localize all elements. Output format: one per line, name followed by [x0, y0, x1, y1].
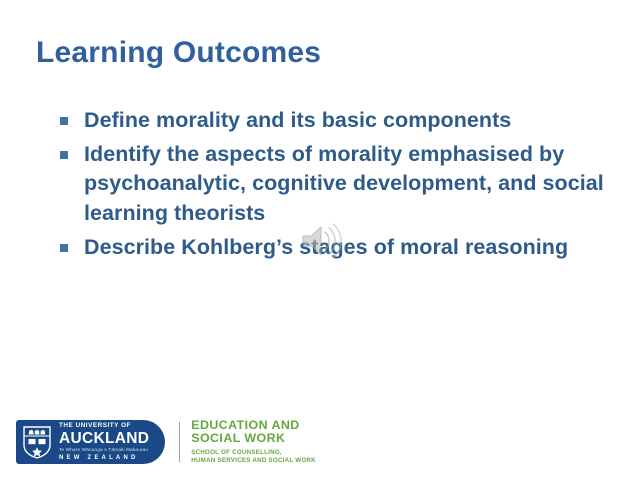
university-of-auckland-logo: ☗☗☗ THE UNIVERSITY OF AUCKLAND Te Whare … [16, 420, 165, 464]
slide-footer: ☗☗☗ THE UNIVERSITY OF AUCKLAND Te Whare … [16, 418, 316, 466]
faculty-line-2: SOCIAL WORK [191, 432, 316, 445]
list-item-text: Define morality and its basic components [84, 106, 620, 135]
list-item-text: Identify the aspects of morality emphasi… [84, 140, 620, 228]
faculty-subtitle-2: HUMAN SERVICES AND SOCIAL WORK [191, 457, 316, 465]
square-bullet-icon [60, 244, 68, 252]
logo-new-zealand: NEW ZEALAND [59, 455, 149, 461]
footer-divider [179, 422, 180, 462]
presentation-slide: Learning Outcomes Define morality and it… [0, 0, 640, 480]
slide-title: Learning Outcomes [36, 36, 321, 70]
speaker-sound-icon[interactable] [299, 219, 345, 263]
university-crest-icon: ☗☗☗ [22, 425, 52, 459]
logo-auckland: AUCKLAND [59, 431, 149, 447]
university-logo-wordmark: THE UNIVERSITY OF AUCKLAND Te Whare Wāna… [59, 423, 149, 461]
list-item: Define morality and its basic components [60, 106, 620, 135]
logo-maori-name: Te Whare Wānanga o Tāmaki Makaurau [59, 448, 149, 453]
faculty-wordmark: EDUCATION AND SOCIAL WORK SCHOOL OF COUN… [191, 419, 316, 465]
list-item-text: Describe Kohlberg’s stages of moral reas… [84, 233, 620, 262]
list-item: Identify the aspects of morality emphasi… [60, 140, 620, 228]
svg-text:☗☗☗: ☗☗☗ [28, 428, 46, 436]
square-bullet-icon [60, 151, 68, 159]
faculty-subtitle-1: SCHOOL OF COUNSELLING, [191, 449, 316, 457]
faculty-line-1: EDUCATION AND [191, 419, 316, 432]
logo-the-university-of: THE UNIVERSITY OF [59, 423, 149, 429]
square-bullet-icon [60, 117, 68, 125]
